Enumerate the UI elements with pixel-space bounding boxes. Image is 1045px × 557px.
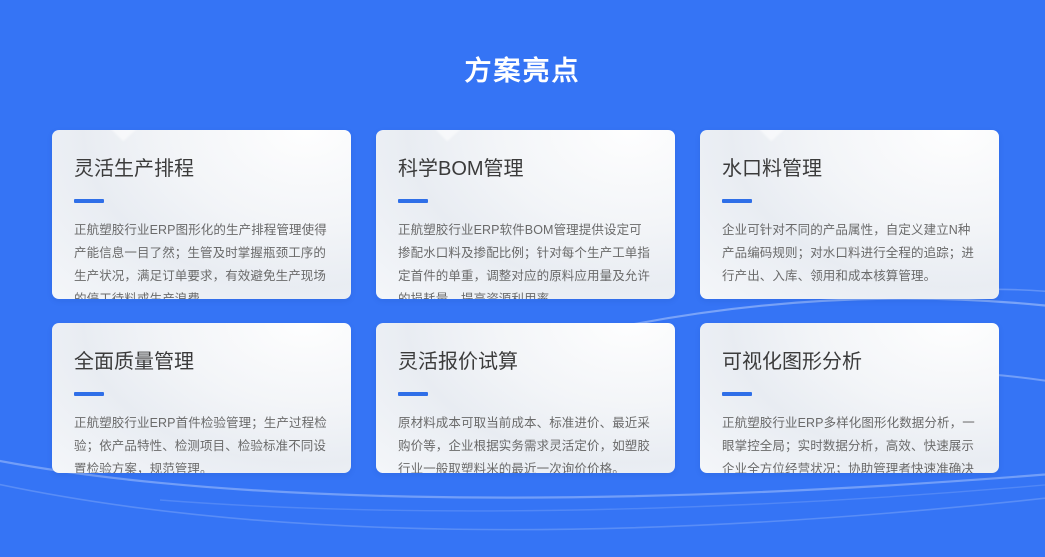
card-title: 可视化图形分析 (722, 349, 975, 375)
highlight-card[interactable]: 可视化图形分析 正航塑胶行业ERP多样化图形化数据分析，一眼掌控全局；实时数据分… (700, 323, 999, 473)
accent-bar (722, 199, 752, 203)
highlight-card[interactable]: 全面质量管理 正航塑胶行业ERP首件检验管理；生产过程检验；依产品特性、检测项目… (52, 323, 351, 473)
accent-bar (398, 392, 428, 396)
card-body: 正航塑胶行业ERP多样化图形化数据分析，一眼掌控全局；实时数据分析，高效、快速展… (722, 412, 975, 473)
card-body: 原材料成本可取当前成本、标准进价、最近采购价等，企业根据实务需求灵活定价，如塑胶… (398, 412, 651, 473)
page-title: 方案亮点 (0, 52, 1045, 90)
card-body: 正航塑胶行业ERP软件BOM管理提供设定可掺配水口料及掺配比例；针对每个生产工单… (398, 219, 651, 299)
solution-highlights-section: 方案亮点 灵活生产排程 正航塑胶行业ERP图形化的生产排程管理使得产能信息一目了… (0, 0, 1045, 557)
card-title: 全面质量管理 (74, 349, 327, 375)
highlight-card[interactable]: 科学BOM管理 正航塑胶行业ERP软件BOM管理提供设定可掺配水口料及掺配比例；… (376, 130, 675, 299)
card-title: 灵活生产排程 (74, 156, 327, 182)
card-body: 企业可针对不同的产品属性，自定义建立N种产品编码规则；对水口料进行全程的追踪；进… (722, 219, 975, 288)
card-body: 正航塑胶行业ERP图形化的生产排程管理使得产能信息一目了然；生管及时掌握瓶颈工序… (74, 219, 327, 299)
card-title: 灵活报价试算 (398, 349, 651, 375)
highlight-card[interactable]: 水口料管理 企业可针对不同的产品属性，自定义建立N种产品编码规则；对水口料进行全… (700, 130, 999, 299)
highlight-card[interactable]: 灵活生产排程 正航塑胶行业ERP图形化的生产排程管理使得产能信息一目了然；生管及… (52, 130, 351, 299)
accent-bar (398, 199, 428, 203)
highlight-card[interactable]: 灵活报价试算 原材料成本可取当前成本、标准进价、最近采购价等，企业根据实务需求灵… (376, 323, 675, 473)
card-title: 科学BOM管理 (398, 156, 651, 182)
accent-bar (74, 199, 104, 203)
accent-bar (722, 392, 752, 396)
highlight-card-grid: 灵活生产排程 正航塑胶行业ERP图形化的生产排程管理使得产能信息一目了然；生管及… (52, 130, 999, 473)
card-title: 水口料管理 (722, 156, 975, 182)
card-body: 正航塑胶行业ERP首件检验管理；生产过程检验；依产品特性、检测项目、检验标准不同… (74, 412, 327, 473)
accent-bar (74, 392, 104, 396)
